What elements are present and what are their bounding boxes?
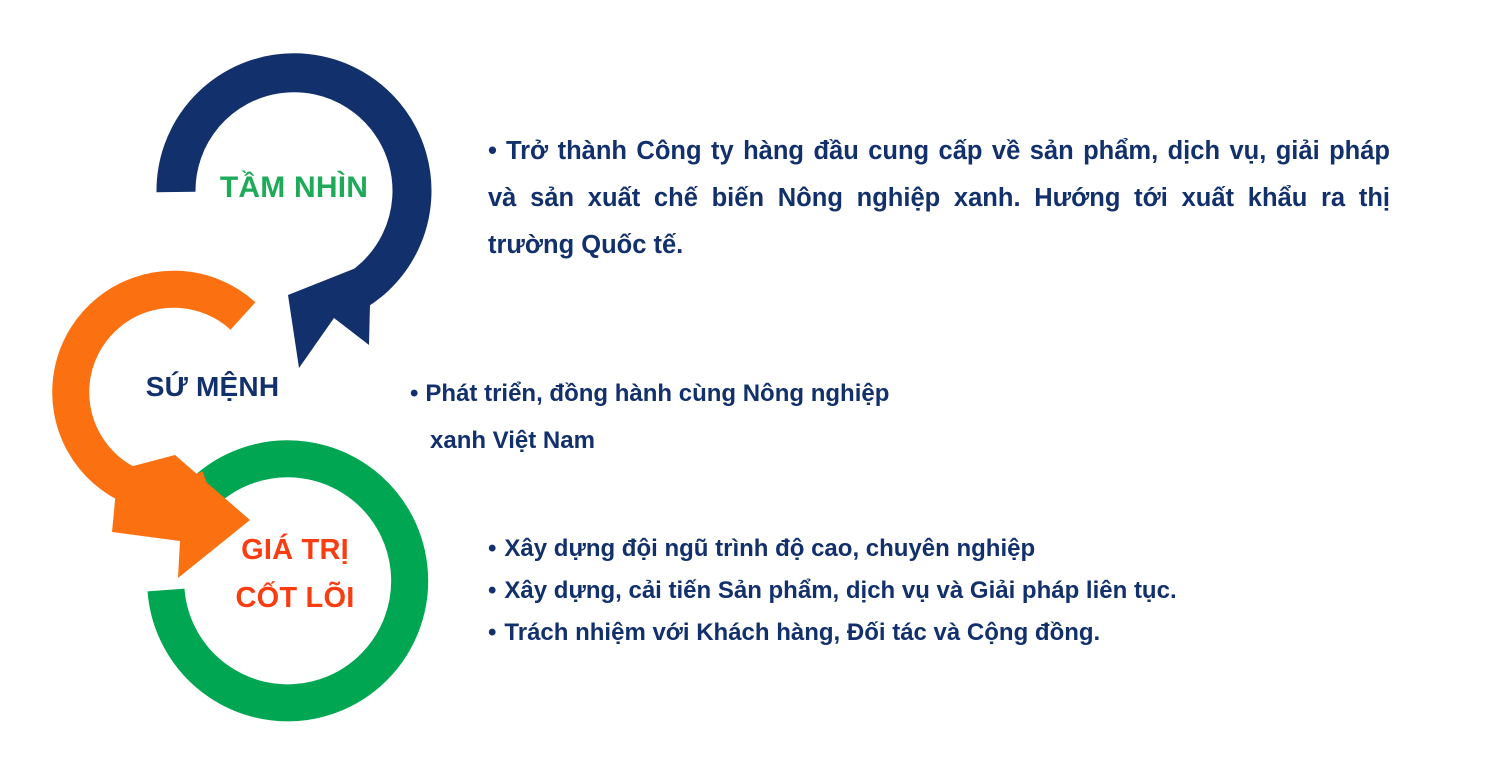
core-values-label-line-1: GIÁ TRỊ bbox=[205, 533, 385, 567]
core-values-item-text: Xây dựng, cải tiến Sản phẩm, dịch vụ và … bbox=[504, 577, 1176, 604]
infographic-canvas: TẦM NHÌN SỨ MỆNH GIÁ TRỊ CỐT LÕI •Trở th… bbox=[0, 0, 1488, 760]
core-values-label-line-2: CỐT LÕI bbox=[205, 581, 385, 615]
core-values-ring-label: GIÁ TRỊ CỐT LÕI bbox=[205, 533, 385, 615]
bullet-icon: • bbox=[488, 535, 504, 562]
mission-ring-label: SỨ MỆNH bbox=[85, 370, 340, 403]
mission-text-block: •Phát triển, đồng hành cùng Nông nghiệp … bbox=[410, 370, 1050, 464]
bullet-icon: • bbox=[488, 619, 504, 646]
vision-ring-label: TẦM NHÌN bbox=[183, 170, 405, 205]
bullet-icon: • bbox=[488, 137, 506, 165]
core-values-item-text: Trách nhiệm với Khách hàng, Đối tác và C… bbox=[504, 619, 1100, 646]
vision-paragraph: •Trở thành Công ty hàng đầu cung cấp về … bbox=[488, 128, 1390, 269]
vision-ring bbox=[176, 73, 412, 368]
vision-text-block: •Trở thành Công ty hàng đầu cung cấp về … bbox=[488, 128, 1390, 269]
vision-paragraph-text: Trở thành Công ty hàng đầu cung cấp về s… bbox=[488, 137, 1390, 259]
mission-line-2-text: xanh Việt Nam bbox=[430, 427, 595, 454]
mission-line-1: •Phát triển, đồng hành cùng Nông nghiệp bbox=[410, 370, 1050, 417]
bullet-icon: • bbox=[488, 577, 504, 604]
mission-line-1-text: Phát triển, đồng hành cùng Nông nghiệp bbox=[425, 380, 889, 407]
core-values-item: •Xây dựng, cải tiến Sản phẩm, dịch vụ và… bbox=[488, 570, 1368, 612]
core-values-item: •Trách nhiệm với Khách hàng, Đối tác và … bbox=[488, 612, 1368, 654]
core-values-item-text: Xây dựng đội ngũ trình độ cao, chuyên ng… bbox=[504, 535, 1035, 562]
circular-process-diagram: TẦM NHÌN SỨ MỆNH GIÁ TRỊ CỐT LÕI bbox=[0, 0, 470, 760]
mission-line-2: xanh Việt Nam bbox=[410, 417, 1050, 464]
core-values-item: •Xây dựng đội ngũ trình độ cao, chuyên n… bbox=[488, 528, 1368, 570]
core-values-text-block: •Xây dựng đội ngũ trình độ cao, chuyên n… bbox=[488, 528, 1368, 654]
bullet-icon: • bbox=[410, 380, 425, 407]
